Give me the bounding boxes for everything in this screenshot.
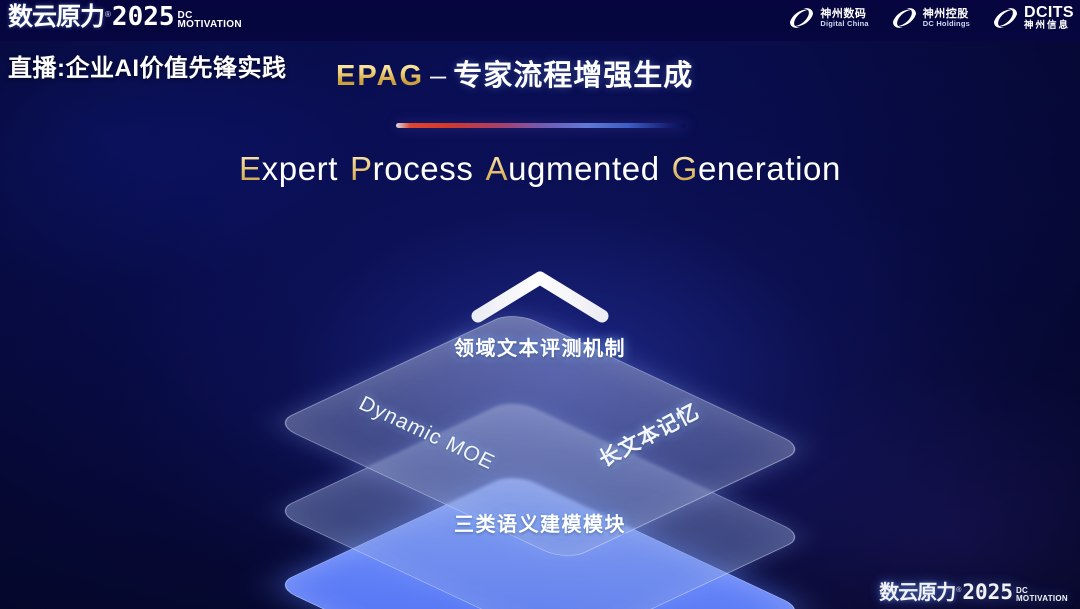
subtitle-word-rest: eneration <box>698 150 841 187</box>
watermark-year: 2025 <box>962 582 1013 603</box>
partner-text-dcits: DCITS 神州信息 <box>1024 5 1074 32</box>
brand-year: 2025 <box>112 4 175 30</box>
brand-motivation-lockup: DC MOTIVATION <box>178 11 242 30</box>
title-acronym: EPAG <box>336 60 424 92</box>
watermark-logo: 数云原力 ® 2025 DC MOTIVATION <box>879 582 1068 603</box>
subtitle-word-rest: rocess <box>373 150 474 187</box>
partner-logo-dc-holdings: 神州控股 DC Holdings <box>891 6 970 30</box>
slide-canvas: 数云原力 ® 2025 DC MOTIVATION 神州数码 Digital C… <box>0 0 1080 609</box>
partner-text-digital-china: 神州数码 Digital China <box>820 9 868 28</box>
header-band: 数云原力 ® 2025 DC MOTIVATION 神州数码 Digital C… <box>0 0 1080 41</box>
gradient-divider <box>396 123 686 128</box>
partner-logo-digital-china: 神州数码 Digital China <box>788 6 868 30</box>
swirl-icon <box>891 6 918 30</box>
diagram-label-top: 领域文本评测机制 <box>0 332 1080 361</box>
subtitle-word-generation: Generation <box>672 150 841 188</box>
partner-name-en: DC Holdings <box>923 20 970 28</box>
english-subtitle: ExpertProcessAugmentedGeneration <box>0 150 1080 188</box>
diagram-label-bottom: 三类语义建模模块 <box>0 508 1080 537</box>
swirl-icon <box>992 6 1019 30</box>
subtitle-word-rest: ugmented <box>508 150 660 187</box>
title-dash: – <box>424 60 453 92</box>
title-chinese: 专家流程增强生成 <box>453 60 693 92</box>
partner-name-en: DCITS <box>1024 5 1074 21</box>
partner-name-cn: 神州信息 <box>1024 21 1074 32</box>
brand-logo: 数云原力 ® 2025 DC MOTIVATION <box>8 4 242 30</box>
watermark-motivation-text: MOTIVATION <box>1016 595 1068 602</box>
subtitle-word-process: Process <box>350 150 473 188</box>
subtitle-word-expert: Expert <box>239 150 338 188</box>
partner-logo-dcits: DCITS 神州信息 <box>992 5 1074 32</box>
subtitle-initial: G <box>672 150 698 187</box>
live-stream-label: 直播:企业AI价值先锋实践 <box>8 48 287 83</box>
brand-registered-mark: ® <box>105 11 111 19</box>
subtitle-word-augmented: Augmented <box>485 150 659 188</box>
subtitle-initial: E <box>239 150 262 187</box>
subtitle-initial: P <box>350 150 373 187</box>
chevron-up-icon <box>470 268 610 331</box>
page-title: EPAG–专家流程增强生成 <box>336 52 693 94</box>
partner-text-dc-holdings: 神州控股 DC Holdings <box>923 9 970 28</box>
watermark-registered-mark: ® <box>956 587 961 594</box>
watermark-motivation-lockup: DC MOTIVATION <box>1016 587 1068 603</box>
partner-name-en: Digital China <box>820 20 868 28</box>
brand-name-cn: 数云原力 <box>8 5 104 30</box>
brand-motivation-text: MOTIVATION <box>178 20 242 29</box>
swirl-icon <box>788 6 815 30</box>
subtitle-initial: A <box>485 150 508 187</box>
subtitle-word-rest: xpert <box>262 150 338 187</box>
watermark-name-cn: 数云原力 <box>879 583 955 603</box>
partner-logo-group: 神州数码 Digital China 神州控股 DC Holdings <box>788 5 1074 32</box>
